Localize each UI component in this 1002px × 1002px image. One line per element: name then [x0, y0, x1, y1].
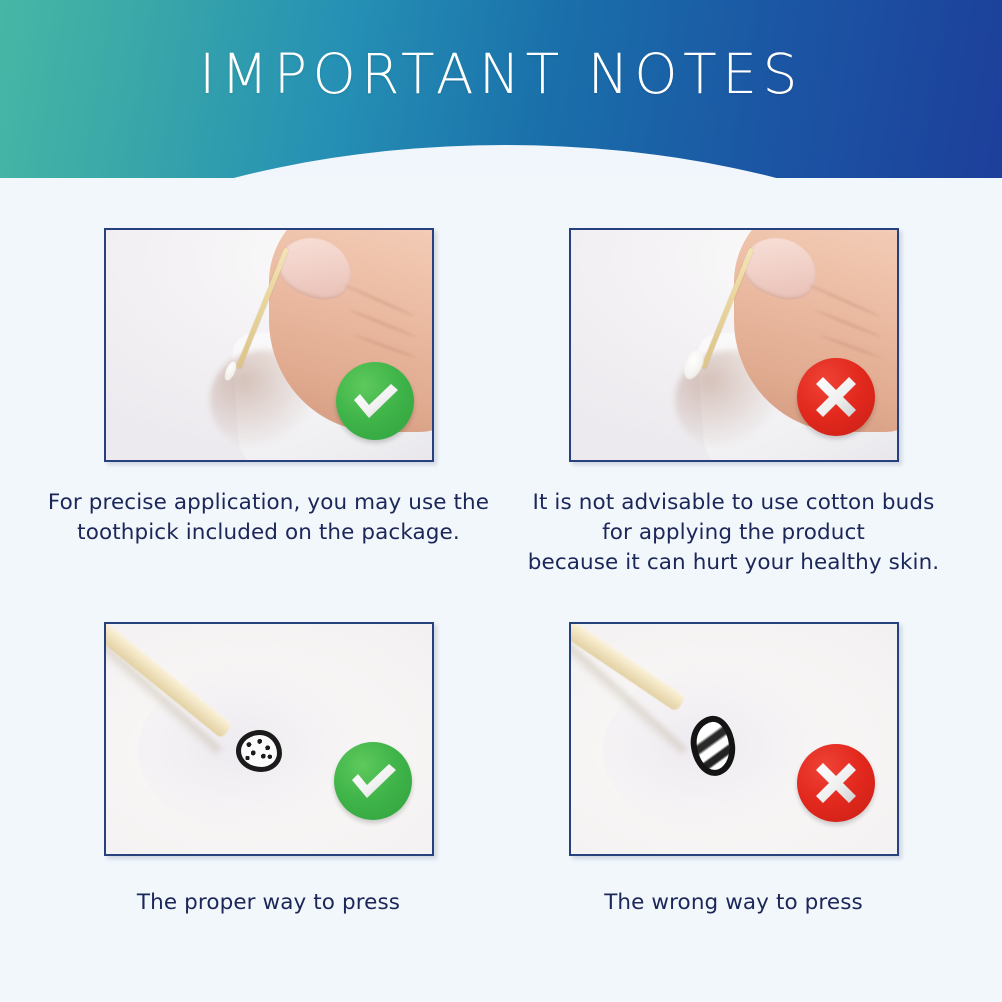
panel-top-right: It is not advisable to use cotton buds f… — [501, 228, 966, 578]
photo-frame-top-left — [104, 228, 434, 462]
caption-top-left: For precise application, you may use the… — [36, 488, 501, 548]
photo-frame-top-right — [569, 228, 899, 462]
cross-badge — [797, 744, 875, 822]
panel-bottom-left: The proper way to press — [36, 622, 501, 918]
panel-bottom-right: The wrong way to press — [501, 622, 966, 918]
check-badge — [336, 362, 414, 440]
caption-top-right: It is not advisable to use cotton buds f… — [501, 488, 966, 578]
caption-bottom-right: The wrong way to press — [501, 888, 966, 918]
cross-badge — [797, 358, 875, 436]
photo-frame-bottom-left — [104, 622, 434, 856]
caption-bottom-left: The proper way to press — [36, 888, 501, 918]
check-badge — [334, 742, 412, 820]
header-curve-decoration — [0, 145, 1002, 178]
panels-grid: For precise application, you may use the… — [0, 178, 1002, 1002]
important-notes-infographic: IMPORTANT NOTES — [0, 0, 1002, 1002]
panel-top-left: For precise application, you may use the… — [36, 228, 501, 548]
header-banner: IMPORTANT NOTES — [0, 0, 1002, 178]
page-title: IMPORTANT NOTES — [0, 44, 1002, 104]
photo-frame-bottom-right — [569, 622, 899, 856]
